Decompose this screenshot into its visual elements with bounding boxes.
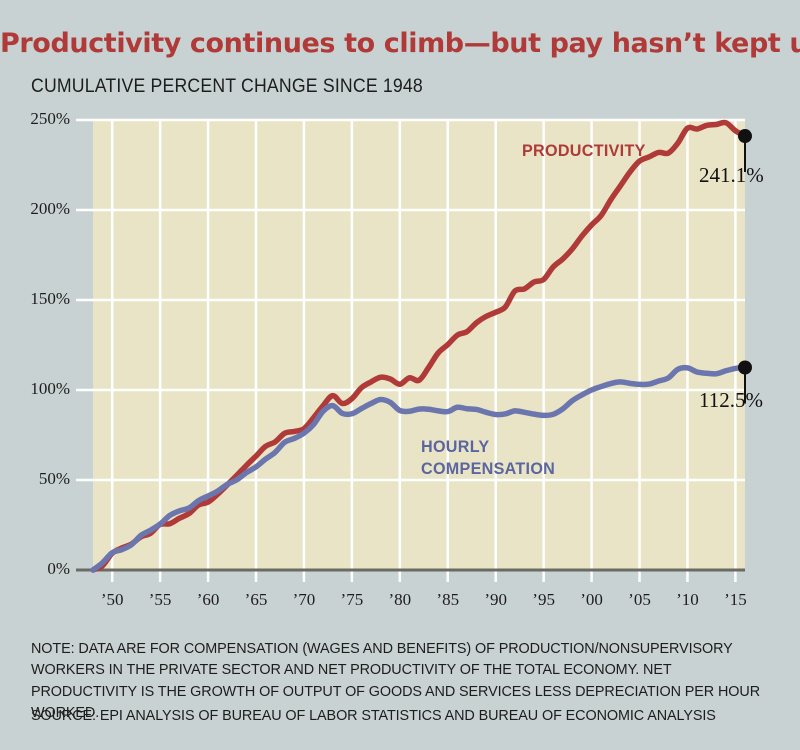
y-tick-label: 100% [0,379,70,399]
y-tick-label: 250% [0,109,70,129]
series-label-productivity: PRODUCTIVITY [522,141,646,161]
endpoint-value-productivity: 241.1% [699,163,764,188]
x-tick-label: ’10 [664,590,710,610]
y-tick-label: 50% [0,469,70,489]
x-tick-label: ’80 [377,590,423,610]
endpoint-value-compensation: 112.5% [699,388,763,413]
x-tick-label: ’60 [185,590,231,610]
series-label-compensation-line1: HOURLY [421,436,555,458]
x-tick-label: ’85 [425,590,471,610]
x-tick-label: ’15 [712,590,758,610]
x-tick-label: ’50 [89,590,135,610]
x-tick-label: ’75 [329,590,375,610]
x-tick-label: ’55 [137,590,183,610]
y-tick-label: 150% [0,289,70,309]
series-label-compensation-line2: COMPENSATION [421,458,555,480]
gridlines [93,120,745,570]
x-tick-label: ’05 [617,590,663,610]
x-tick-label: ’70 [281,590,327,610]
series-label-compensation: HOURLY COMPENSATION [421,436,555,481]
x-tick-label: ’90 [473,590,519,610]
x-tick-label: ’95 [521,590,567,610]
chart-source: SOURCE: EPI ANALYSIS OF BUREAU OF LABOR … [31,707,761,724]
chart-figure: Productivity continues to climb—but pay … [0,0,800,750]
y-tick-label: 0% [0,559,70,579]
y-tick-label: 200% [0,199,70,219]
x-tick-label: ’00 [569,590,615,610]
series-paths [93,122,745,570]
x-tick-label: ’65 [233,590,279,610]
